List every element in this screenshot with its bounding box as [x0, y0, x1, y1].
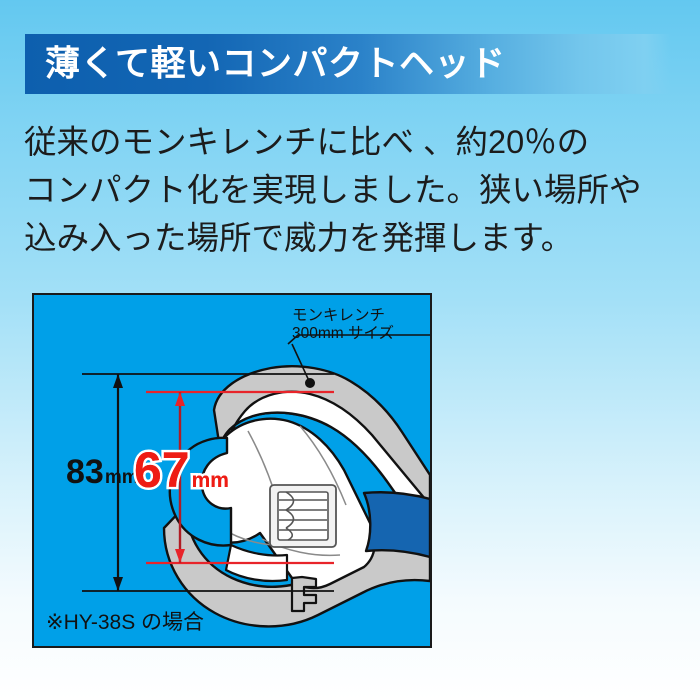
- dimension-value-67: 67: [134, 442, 190, 498]
- worm-gear-teeth: [278, 492, 328, 540]
- banner-title: 薄くて軽いコンパクトヘッド: [45, 47, 505, 82]
- dimension-label-67mm: 67mm: [134, 445, 229, 495]
- page-root: 薄くて軽いコンパクトヘッド 従来のモンキレンチに比べ 、約20％の コンパクト化…: [0, 0, 700, 700]
- comparison-diagram-panel: モンキレンチ 300mm サイズ 83mm 67mm 67mm ※HY-38S …: [32, 293, 432, 648]
- body-line-3: 込み入った場所で威力を発揮します。: [24, 214, 684, 262]
- diagram-footnote: ※HY-38S の場合: [46, 606, 204, 636]
- header-banner: 薄くて軽いコンパクトヘッド: [25, 34, 671, 94]
- callout-line-2: 300mm サイズ: [292, 325, 394, 343]
- handle-grip: [364, 492, 430, 557]
- callout-label: モンキレンチ 300mm サイズ: [292, 307, 394, 343]
- body-line-2: コンパクト化を実現しました。狭い場所や: [24, 166, 684, 214]
- callout-line-1: モンキレンチ: [292, 307, 394, 325]
- body-paragraph: 従来のモンキレンチに比べ 、約20％の コンパクト化を実現しました。狭い場所や …: [24, 118, 684, 262]
- dimension-value-83: 83: [66, 453, 104, 491]
- dimension-unit-67: mm: [192, 469, 229, 492]
- body-line-1: 従来のモンキレンチに比べ 、約20％の: [24, 118, 684, 166]
- dimension-label-83mm: 83mm: [66, 455, 139, 489]
